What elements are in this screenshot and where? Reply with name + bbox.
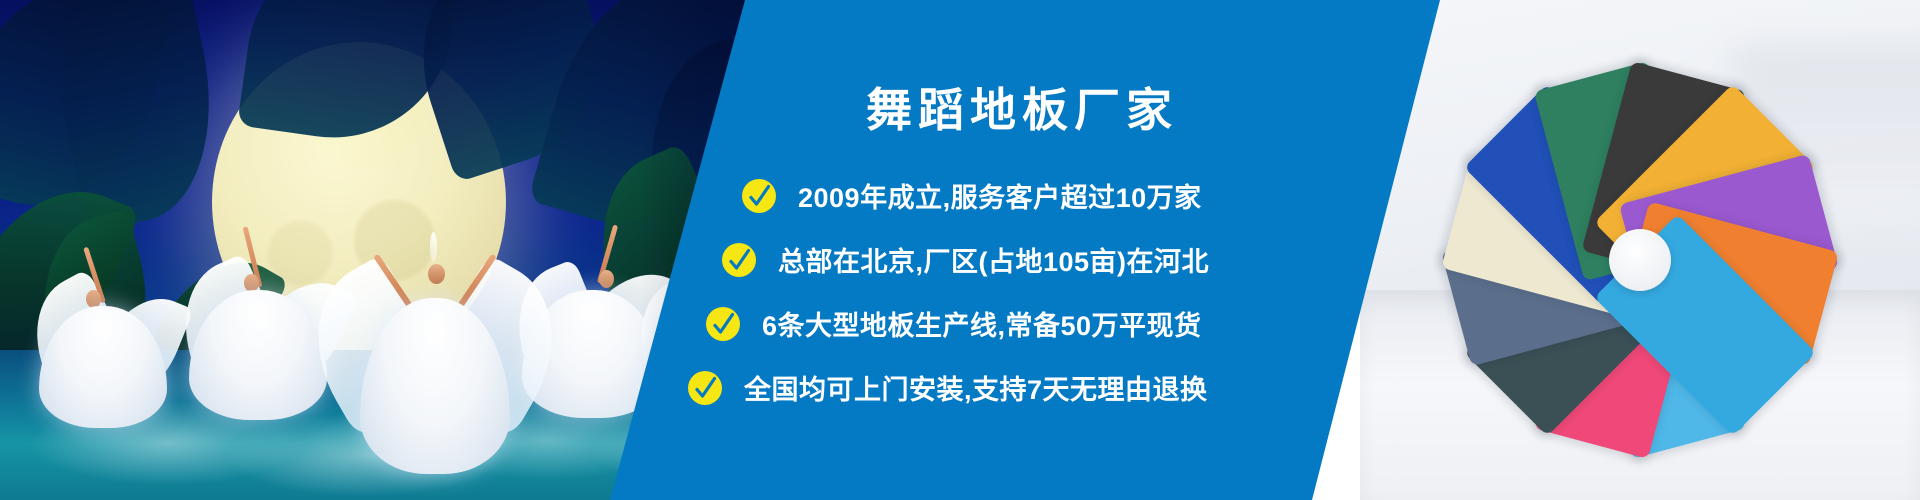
list-item-label: 2009年成立,服务客户超过10万家: [798, 176, 1202, 215]
promotional-banner: 舞蹈地板厂家 2009年成立,服务客户超过10万家 总部在北京,厂区(占地105…: [0, 0, 1920, 500]
dancer-figure-lead: [320, 214, 550, 474]
list-item: 6条大型地板生产线,常备50万平现货: [706, 304, 1202, 343]
list-item-label: 6条大型地板生产线,常备50万平现货: [762, 304, 1202, 343]
list-item: 2009年成立,服务客户超过10万家: [742, 176, 1202, 215]
fan-center-hub: [1609, 229, 1671, 291]
check-circle-icon: [742, 179, 776, 213]
list-item-label: 全国均可上门安装,支持7天无理由退换: [744, 368, 1208, 407]
list-item: 全国均可上门安装,支持7天无理由退换: [688, 368, 1208, 407]
check-circle-icon: [688, 371, 722, 405]
list-item: 总部在北京,厂区(占地105亩)在河北: [722, 240, 1209, 279]
check-circle-icon: [722, 243, 756, 277]
list-item-label: 总部在北京,厂区(占地105亩)在河北: [778, 240, 1209, 279]
check-circle-icon: [706, 307, 740, 341]
